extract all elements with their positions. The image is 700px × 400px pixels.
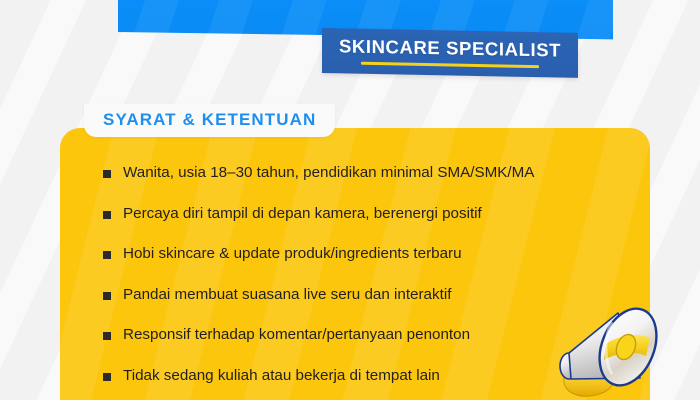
skincare-specialist-label: SKINCARE SPECIALIST [339,37,561,60]
square-bullet-icon [103,170,111,178]
requirement-text: Hobi skincare & update produk/ingredient… [123,244,462,264]
requirements-list: Wanita, usia 18–30 tahun, pendidikan min… [103,163,603,400]
requirement-text: Pandai membuat suasana live seru dan int… [123,285,451,305]
square-bullet-icon [103,373,111,381]
skincare-specialist-badge: SKINCARE SPECIALIST [322,28,578,78]
list-item: Pandai membuat suasana live seru dan int… [103,285,603,326]
list-item: Hobi skincare & update produk/ingredient… [103,244,603,285]
list-item: Percaya diri tampil di depan kamera, ber… [103,204,603,245]
megaphone-icon [556,300,668,400]
square-bullet-icon [103,292,111,300]
requirement-text: Responsif terhadap komentar/pertanyaan p… [123,325,470,345]
poster-canvas: SKINCARE SPECIALIST SYARAT & KETENTUAN W… [0,0,700,400]
square-bullet-icon [103,251,111,259]
list-item: Tidak sedang kuliah atau bekerja di temp… [103,366,603,400]
requirement-text: Tidak sedang kuliah atau bekerja di temp… [123,366,440,386]
requirements-heading-pill: SYARAT & KETENTUAN [84,104,335,137]
list-item: Wanita, usia 18–30 tahun, pendidikan min… [103,163,603,204]
square-bullet-icon [103,332,111,340]
requirement-text: Percaya diri tampil di depan kamera, ber… [123,204,482,224]
requirements-heading: SYARAT & KETENTUAN [103,111,316,128]
skincare-specialist-badge-inner: SKINCARE SPECIALIST [322,28,578,78]
requirement-text: Wanita, usia 18–30 tahun, pendidikan min… [123,163,534,183]
list-item: Responsif terhadap komentar/pertanyaan p… [103,325,603,366]
badge-underline [361,62,539,68]
square-bullet-icon [103,211,111,219]
